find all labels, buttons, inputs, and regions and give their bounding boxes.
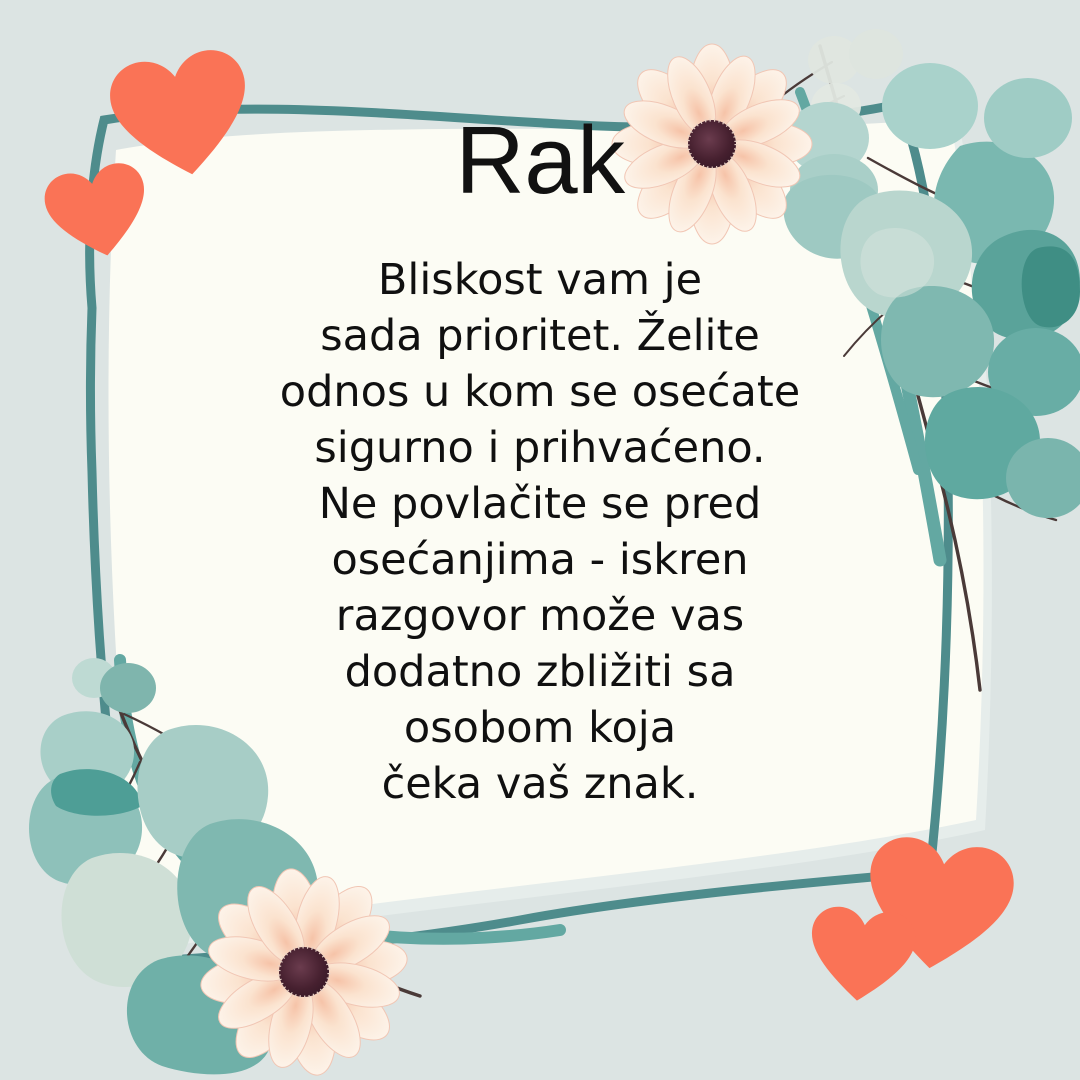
hearts xyxy=(0,0,1080,1080)
heart-top-left-small xyxy=(40,159,156,266)
horoscope-card: Rak Bliskost vam je sada prioritet. Želi… xyxy=(0,0,1080,1080)
heart-top-left-large xyxy=(105,45,259,186)
heart-bottom-right-small xyxy=(805,904,918,1006)
